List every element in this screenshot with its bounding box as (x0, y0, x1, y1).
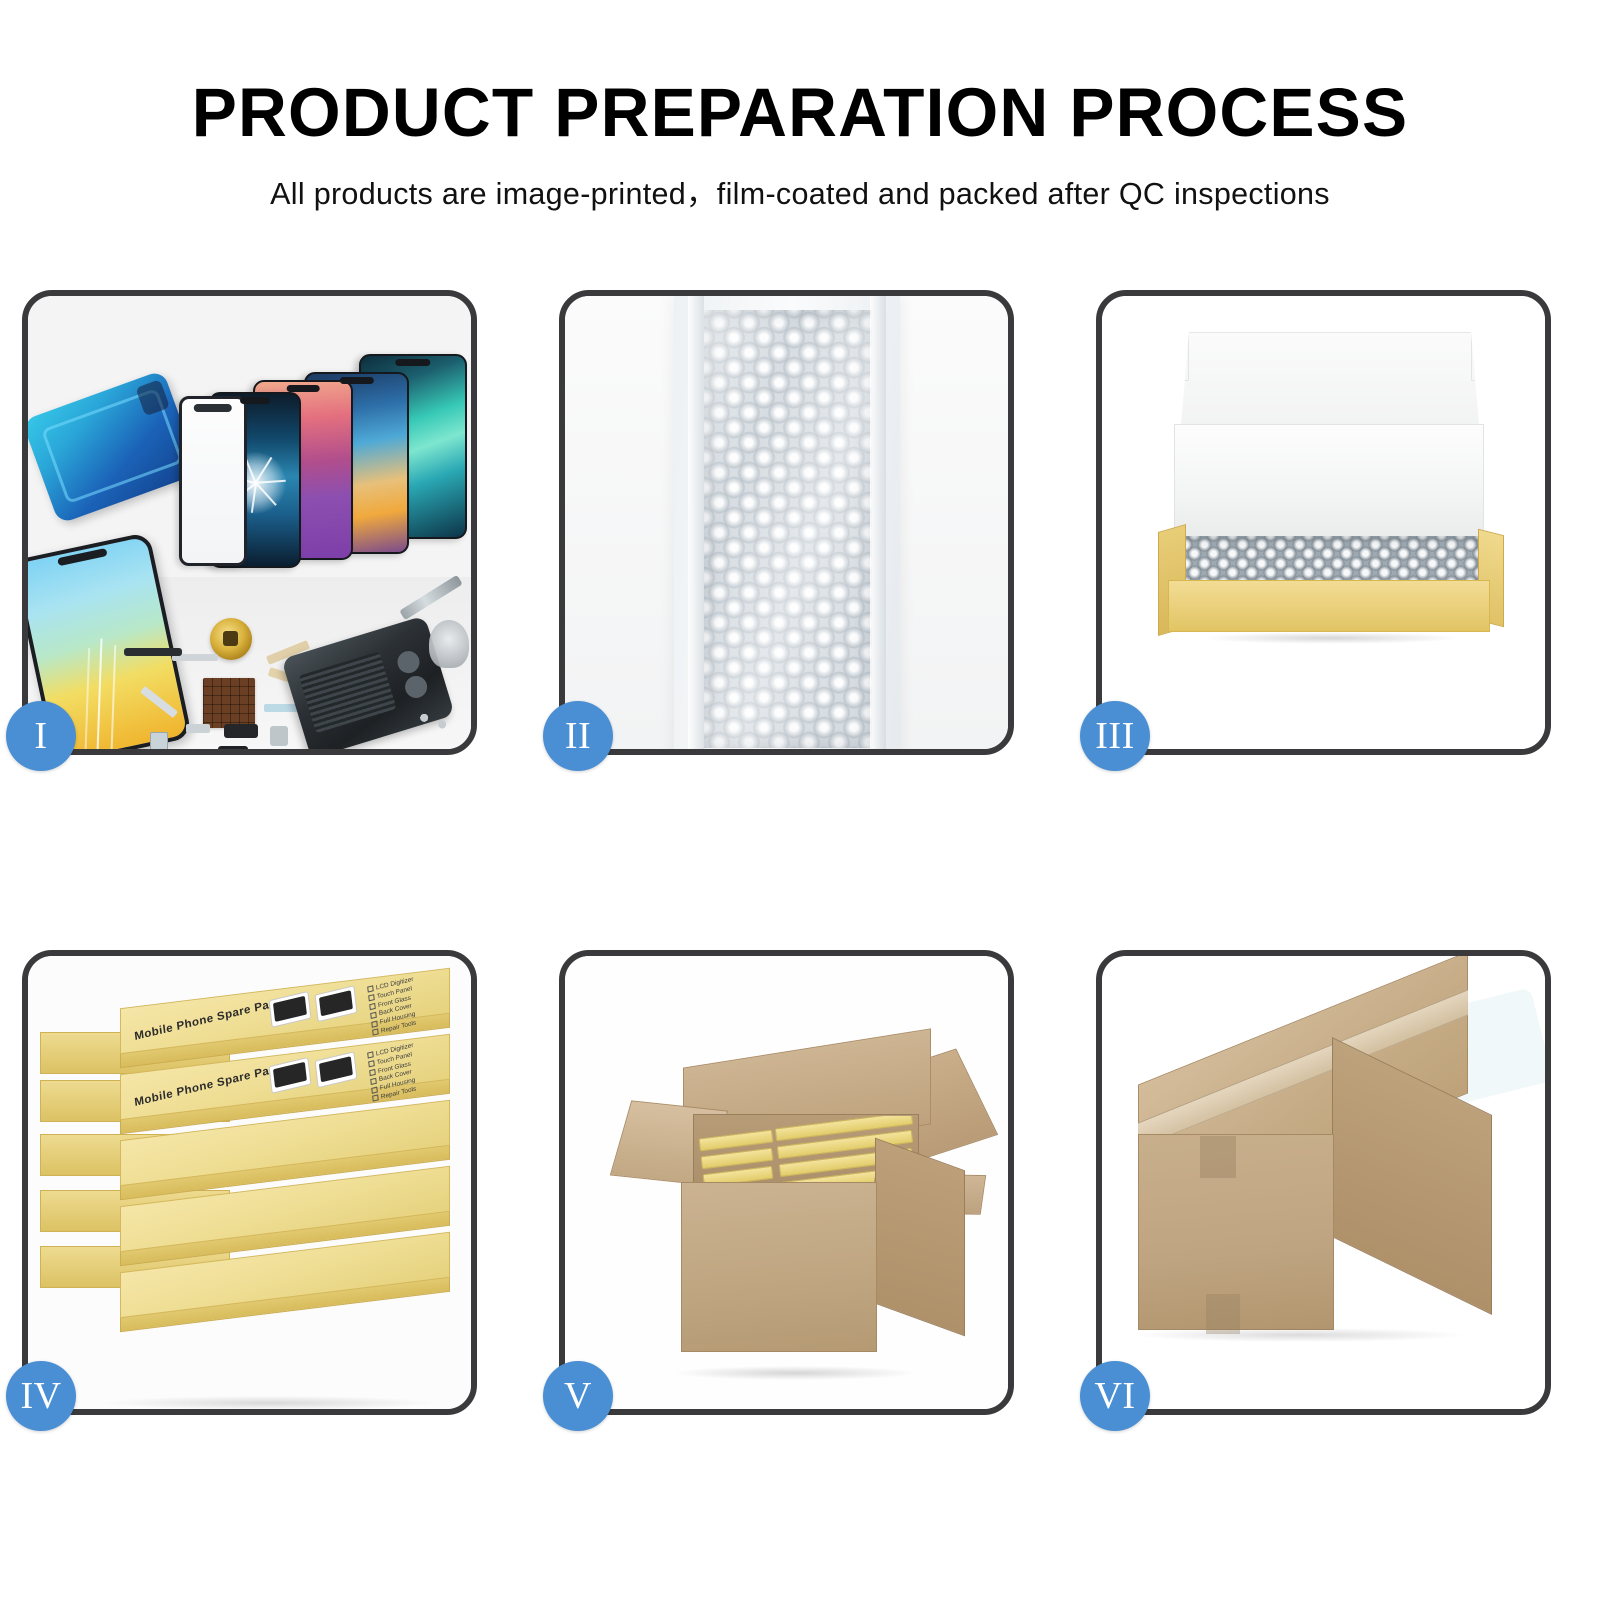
step-badge-1: I (6, 701, 76, 771)
step-6-photo (1102, 956, 1545, 1409)
carton-side-panel (875, 1138, 965, 1337)
retail-box-brand-label: Mobile Phone Spare Parts (134, 996, 286, 1043)
step-2-photo (565, 296, 1008, 749)
open-mailer-box-icon (1164, 332, 1494, 692)
process-step-5: V (559, 950, 1014, 1415)
camera-module-icon (218, 746, 248, 749)
speaker-grille-icon (124, 648, 182, 656)
step-3-photo (1102, 296, 1545, 749)
retail-box-brand-label: Mobile Phone Spare Parts (134, 1062, 286, 1109)
step-5-frame (559, 950, 1014, 1415)
step-badge-4: IV (6, 1361, 76, 1431)
process-step-2: II (559, 290, 1014, 755)
mailer-front-panel (1168, 580, 1490, 632)
screws-icon (417, 709, 453, 731)
page-title: PRODUCT PREPARATION PROCESS (16, 78, 1584, 147)
step-badge-2: II (543, 701, 613, 771)
retail-box-checklist: LCD Digitizer Touch Panel Front Glass Ba… (367, 976, 419, 1039)
side-button-icon (186, 724, 210, 733)
tape-tab (1200, 1136, 1236, 1178)
retail-box-stack-icon: Mobile Phone Spare Parts LCD Digitizer T… (34, 984, 471, 1409)
process-step-3: III (1096, 290, 1551, 755)
bubble-wrap-texture (704, 310, 872, 748)
step-4-photo: Mobile Phone Spare Parts LCD Digitizer T… (28, 956, 471, 1409)
step-badge-6: VI (1080, 1361, 1150, 1431)
header: PRODUCT PREPARATION PROCESS All products… (0, 78, 1600, 213)
step-4-frame: Mobile Phone Spare Parts LCD Digitizer T… (22, 950, 477, 1415)
process-step-1: I (22, 290, 477, 755)
open-shipping-carton-icon (625, 1042, 965, 1378)
page-subtitle: All products are image-printed，film-coat… (0, 169, 1600, 213)
bubble-wrap-pouch-icon (674, 296, 900, 749)
cleaning-brush-icon (429, 620, 469, 668)
retail-box-phone-artwork (315, 1051, 358, 1088)
product-preparation-infographic: PRODUCT PREPARATION PROCESS All products… (0, 0, 1600, 1600)
sim-tray-icon (150, 732, 168, 749)
step-badge-3: III (1080, 701, 1150, 771)
mailer-inner-wall (1174, 424, 1484, 544)
mailer-lid (1180, 332, 1480, 436)
process-step-4: Mobile Phone Spare Parts LCD Digitizer T… (22, 950, 477, 1415)
tempered-glass-icon (179, 396, 247, 566)
step-1-frame (22, 290, 477, 755)
speaker-module-icon (224, 724, 258, 738)
process-steps-grid: I II (22, 290, 1578, 1460)
step-6-frame (1096, 950, 1551, 1415)
retail-box-phone-artwork (315, 985, 358, 1022)
process-step-6: VI (1096, 950, 1551, 1415)
step-badge-5: V (543, 1361, 613, 1431)
carton-front-panel (681, 1182, 877, 1352)
sealed-shipping-carton-icon (1128, 1018, 1538, 1348)
retail-box-phone-artwork (269, 991, 312, 1028)
retail-box-checklist: LCD Digitizer Touch Panel Front Glass Ba… (367, 1042, 419, 1105)
microphone-icon (270, 726, 288, 746)
step-3-frame (1096, 290, 1551, 755)
step-2-frame (559, 290, 1014, 755)
ic-chip-icon (203, 678, 255, 728)
retail-box-phone-artwork (269, 1057, 312, 1094)
step-1-photo (28, 296, 471, 749)
step-5-photo (565, 956, 1008, 1409)
